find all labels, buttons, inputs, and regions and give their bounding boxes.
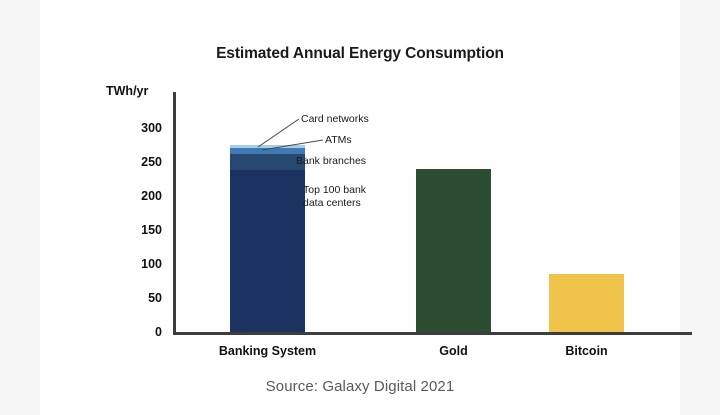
annotation-line-2: data centers <box>303 197 366 210</box>
annotation-bank-data-centers: Top 100 bank data centers <box>303 184 366 210</box>
chart-page: Estimated Annual Energy Consumption TWh/… <box>0 0 720 415</box>
annotation-atms: ATMs <box>325 134 352 147</box>
annotation-card-networks: Card networks <box>301 113 369 126</box>
annotation-line-1: Top 100 bank <box>303 184 366 197</box>
annotation-bank-branches: Bank branches <box>296 155 366 168</box>
chart-panel: Estimated Annual Energy Consumption TWh/… <box>40 0 680 415</box>
annotation-leader-lines <box>40 0 720 415</box>
source-caption: Source: Galaxy Digital 2021 <box>40 378 680 395</box>
